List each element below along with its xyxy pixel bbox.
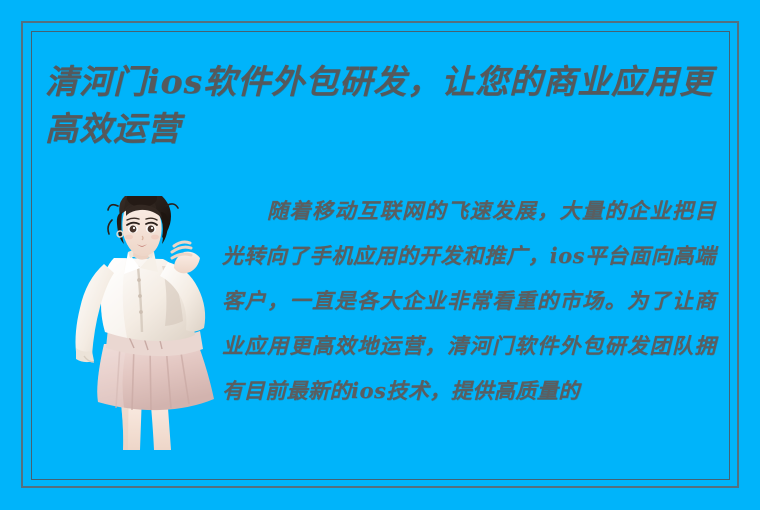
poster-canvas: 清河门ios软件外包研发，让您的商业应用更高效运营 — [0, 0, 760, 510]
page-title: 清河门ios软件外包研发，让您的商业应用更高效运营 — [45, 58, 725, 152]
anime-girl-saluting-icon — [62, 196, 220, 450]
illustration-anime-girl — [62, 196, 220, 450]
body-paragraph: 随着移动互联网的飞速发展，大量的企业把目光转向了手机应用的开发和推广，ios平台… — [222, 188, 716, 413]
